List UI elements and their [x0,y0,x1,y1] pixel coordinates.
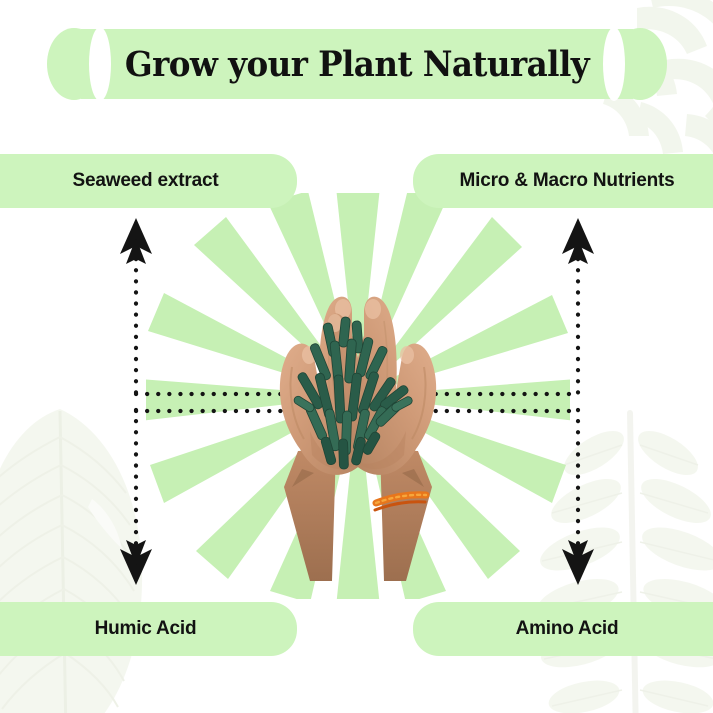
connector-top-left [120,218,152,396]
hands-holding-fertilizer-sticks [240,281,476,581]
connector-bottom-left [120,410,152,585]
feature-label-micro-macro-nutrients: Micro & Macro Nutrients [460,170,675,192]
connector-top-right [562,218,594,396]
feature-pill-amino-acid[interactable]: Amino Acid [413,602,713,656]
title-banner: Grow your Plant Naturally [47,29,667,99]
feature-label-amino-acid: Amino Acid [516,618,619,640]
feature-pill-humic-acid[interactable]: Humic Acid [0,602,297,656]
feature-pill-micro-macro-nutrients[interactable]: Micro & Macro Nutrients [413,154,713,208]
page-title: Grow your Plant Naturally [69,29,646,99]
banana-leaf-watermark-bottom-left [0,407,147,713]
feature-label-humic-acid: Humic Acid [95,618,197,640]
connector-bottom-right [562,410,594,585]
feature-label-seaweed-extract: Seaweed extract [73,170,219,192]
forearms [284,449,432,581]
feature-pill-seaweed-extract[interactable]: Seaweed extract [0,154,297,208]
infographic-poster: .dot { stroke: #141414; stroke-width: 4.… [0,0,713,713]
fern-frond-watermark-bottom-right [534,409,713,713]
